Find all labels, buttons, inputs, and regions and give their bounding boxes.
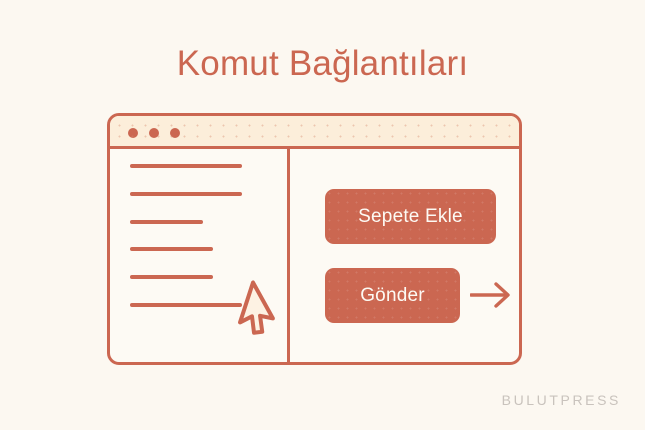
browser-window-body: Sepete Ekle Gönder xyxy=(110,149,519,365)
browser-titlebar xyxy=(110,116,519,149)
mouse-cursor-icon xyxy=(231,279,283,339)
sidebar-placeholder-line xyxy=(130,247,213,251)
illustration-canvas: Komut Bağlantıları xyxy=(0,0,645,430)
content-panel: Sepete Ekle Gönder xyxy=(290,149,525,365)
sidebar-placeholder-line xyxy=(130,164,242,168)
page-title: Komut Bağlantıları xyxy=(0,43,645,85)
window-minimize-dot-icon[interactable] xyxy=(149,128,159,138)
add-to-cart-button[interactable]: Sepete Ekle xyxy=(325,189,496,244)
sidebar-placeholder-line xyxy=(130,275,213,279)
sidebar-placeholder-line xyxy=(130,220,203,224)
window-close-dot-icon[interactable] xyxy=(128,128,138,138)
sidebar-panel xyxy=(110,149,287,365)
browser-window-mockup: Sepete Ekle Gönder xyxy=(107,113,522,365)
submit-button[interactable]: Gönder xyxy=(325,268,460,323)
watermark-logo: BULUTPRESS xyxy=(502,392,621,408)
arrow-right-icon[interactable] xyxy=(470,280,513,310)
sidebar-placeholder-line xyxy=(130,303,242,307)
sidebar-placeholder-line xyxy=(130,192,242,196)
window-maximize-dot-icon[interactable] xyxy=(170,128,180,138)
